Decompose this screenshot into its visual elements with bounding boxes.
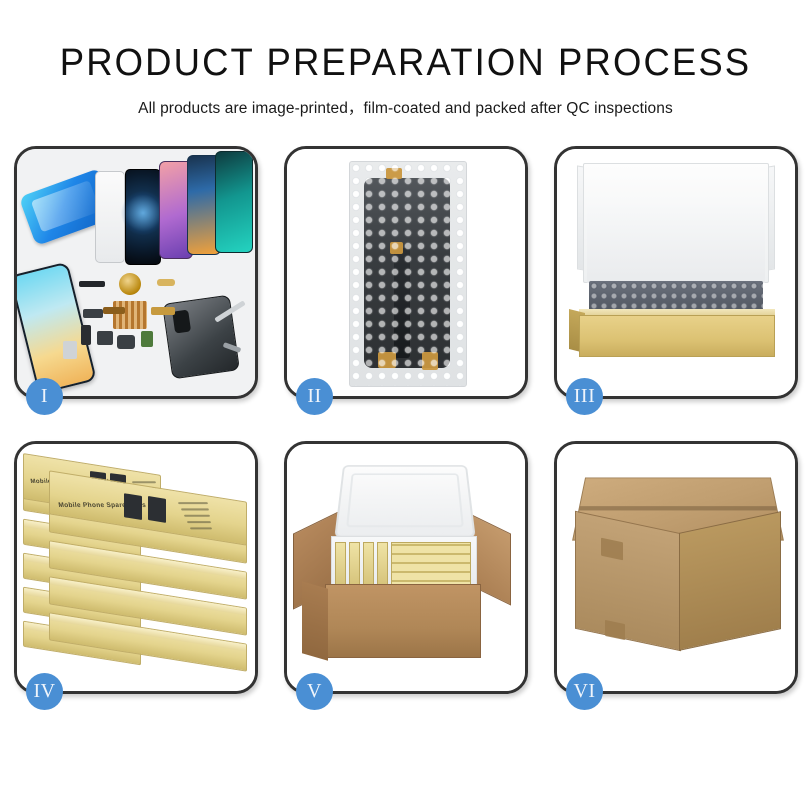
step-5-image (287, 444, 525, 691)
part-small-j (103, 307, 125, 314)
carton-left-face (575, 511, 681, 652)
step-badge-1: I (26, 378, 63, 415)
part-small-c (83, 309, 103, 318)
process-step-5: V (284, 441, 528, 694)
step-badge-3: III (566, 378, 603, 415)
inner-box-3 (363, 542, 374, 590)
step-badge-2: II (296, 378, 333, 415)
step-6-image (557, 444, 795, 691)
step-badge-5: V (296, 673, 333, 710)
foam-case-lid (334, 465, 475, 538)
header: PRODUCT PREPARATION PROCESS All products… (0, 0, 811, 118)
process-step-grid: I II (14, 146, 797, 694)
process-step-4: Mobile Phone Spare Parts Mobile Phone Sp… (14, 441, 258, 694)
bubble-wrap-pouch (349, 161, 467, 387)
carton-top-seam (579, 506, 776, 510)
step-4-image: Mobile Phone Spare Parts Mobile Phone Sp… (17, 444, 255, 691)
part-small-i (63, 341, 77, 359)
part-small-b (157, 279, 175, 286)
process-step-6: VI (554, 441, 798, 694)
inner-box-2 (349, 542, 360, 590)
part-small-h (151, 307, 175, 315)
connector-chip-part (113, 301, 147, 329)
process-step-2: II (284, 146, 528, 399)
page-subtitle: All products are image-printed，film-coat… (0, 96, 811, 118)
gold-contact-bottom-right (422, 352, 438, 370)
box-inner-foam (587, 205, 765, 283)
inner-box-1 (335, 542, 346, 590)
part-small-d (81, 325, 91, 345)
gold-contact-mid (390, 242, 403, 254)
part-small-a (79, 281, 105, 287)
carton-tape-lower (605, 620, 625, 640)
product-preparation-infographic: PRODUCT PREPARATION PROCESS All products… (0, 0, 811, 811)
inner-box-stack (391, 542, 471, 590)
retail-box-stack: Mobile Phone Spare Parts Mobile Phone Sp… (19, 458, 255, 678)
part-small-e (97, 331, 113, 345)
step-1-image (17, 149, 255, 396)
process-step-1: I (14, 146, 258, 399)
flex-cable (394, 248, 410, 358)
part-small-f (117, 335, 135, 349)
carton-front-panel (325, 584, 481, 658)
step-3-image (557, 149, 795, 396)
gold-contact-bottom-left (378, 352, 396, 368)
carton-right-face (679, 511, 781, 651)
page-title: PRODUCT PREPARATION PROCESS (16, 44, 795, 84)
step-badge-6: VI (566, 673, 603, 710)
box-front-panel (579, 315, 775, 357)
inner-box-4 (377, 542, 388, 590)
part-small-g (141, 331, 153, 347)
phone-teal (215, 151, 253, 253)
process-step-3: III (554, 146, 798, 399)
gold-contact-top (386, 168, 402, 179)
speaker-coil-part (119, 273, 141, 295)
step-badge-4: IV (26, 673, 63, 710)
step-2-image (287, 149, 525, 396)
phone-dark-display (125, 169, 161, 265)
